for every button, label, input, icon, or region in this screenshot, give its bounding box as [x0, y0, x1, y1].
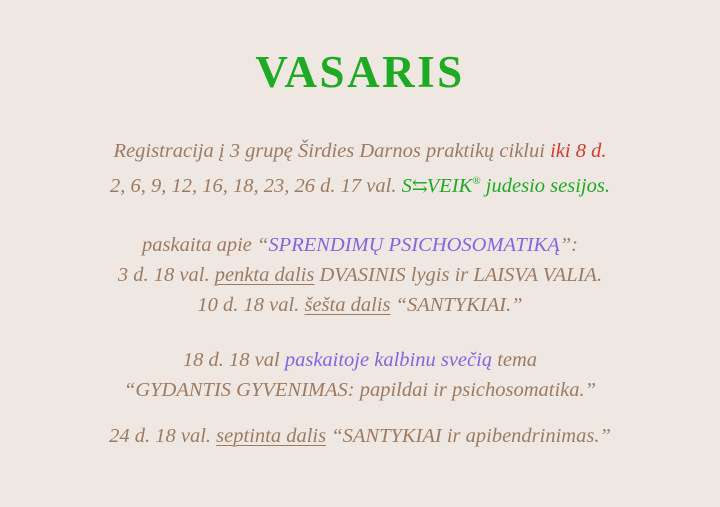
final-session-date: 24 d. 18 val.	[109, 425, 216, 447]
registration-line-1-text: Registracija į 3 grupę Širdies Darnos pr…	[114, 140, 551, 162]
lecture-line-1: paskaita apie “SPRENDIMŲ PSICHOSOMATIKĄ”…	[0, 230, 720, 260]
registration-line-2: 2, 6, 9, 12, 16, 18, 23, 26 d. 17 val. S…	[0, 166, 720, 202]
lecture-line-3: 10 d. 18 val. šešta dalis “SANTYKIAI.”	[0, 290, 720, 320]
final-session-paragraph: 24 d. 18 val. septinta dalis “SANTYKIAI …	[0, 421, 720, 451]
lecture-intro-text-end: ”:	[560, 234, 578, 256]
guest-lecture-highlight: paskaitoje kalbinu svečią	[285, 349, 492, 371]
guest-lecture-date: 18 d. 18 val	[183, 349, 285, 371]
final-session-line-1: 24 d. 18 val. septinta dalis “SANTYKIAI …	[0, 421, 720, 451]
registered-trademark-icon: ®	[472, 175, 480, 187]
final-session-part-label: septinta dalis	[216, 425, 326, 447]
lecture-part5-date: 3 d. 18 val.	[118, 264, 215, 286]
lecture-intro-text: paskaita apie “	[142, 234, 268, 256]
lecture-part5-title: DVASINIS lygis ir LAISVA VALIA.	[314, 264, 602, 286]
guest-lecture-line-1: 18 d. 18 val paskaitoje kalbinu svečią t…	[0, 345, 720, 375]
registration-paragraph: Registracija į 3 grupę Širdies Darnos pr…	[0, 136, 720, 202]
poster-canvas: VASARIS Registracija į 3 grupę Širdies D…	[0, 0, 720, 507]
lecture-topic-highlight: SPRENDIMŲ PSICHOSOMATIKĄ	[268, 234, 559, 256]
registration-line-1: Registracija į 3 grupę Širdies Darnos pr…	[0, 136, 720, 166]
brand-session-suffix: judesio sesijos.	[481, 175, 610, 197]
guest-lecture-paragraph: 18 d. 18 val paskaitoje kalbinu svečią t…	[0, 345, 720, 405]
registration-deadline-highlight: iki 8 d.	[550, 140, 606, 162]
lecture-part6-date: 10 d. 18 val.	[197, 294, 304, 316]
guest-lecture-title: “GYDANTIS GYVENIMAS: papildai ir psichos…	[0, 375, 720, 405]
guest-lecture-tema-word: tema	[492, 349, 537, 371]
registration-dates-text: 2, 6, 9, 12, 16, 18, 23, 26 d. 17 val.	[110, 175, 402, 197]
brand-name-veik: VEIK	[427, 175, 473, 197]
final-session-title: “SANTYKIAI ir apibendrinimas.”	[326, 425, 611, 447]
lecture-line-2: 3 d. 18 val. penkta dalis DVASINIS lygis…	[0, 260, 720, 290]
lecture-paragraph: paskaita apie “SPRENDIMŲ PSICHOSOMATIKĄ”…	[0, 230, 720, 320]
swap-arrows-icon: ⇆	[412, 176, 427, 197]
lecture-part6-label: šešta dalis	[304, 294, 390, 316]
page-title: VASARIS	[0, 50, 720, 95]
brand-name-s: S	[402, 175, 412, 197]
lecture-part6-title: “SANTYKIAI.”	[390, 294, 522, 316]
lecture-part5-label: penkta dalis	[215, 264, 315, 286]
